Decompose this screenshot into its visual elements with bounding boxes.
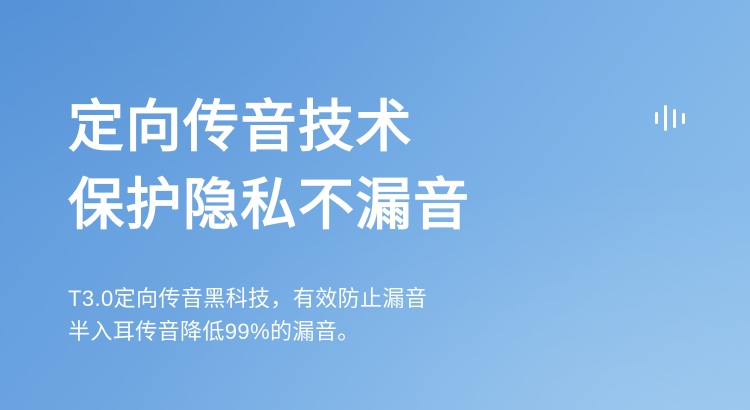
headline: 定向传音技术 保护隐私不漏音 [68,88,471,244]
sound-wave-bar-3 [673,109,676,128]
sound-wave-icon [655,103,685,133]
subtitle-line-2: 半入耳传音降低99%的漏音。 [68,315,427,348]
sound-wave-bar-1 [655,112,658,124]
headline-line-1: 定向传音技术 [68,88,471,166]
feature-banner: 定向传音技术 保护隐私不漏音 T3.0定向传音黑科技，有效防止漏音 半入耳传音降… [0,0,750,410]
headline-line-2: 保护隐私不漏音 [68,166,471,244]
banner-content: 定向传音技术 保护隐私不漏音 T3.0定向传音黑科技，有效防止漏音 半入耳传音降… [68,0,668,410]
subtitle-line-1: T3.0定向传音黑科技，有效防止漏音 [68,282,427,315]
sound-wave-bar-2 [664,105,667,131]
sound-wave-bar-4 [682,113,685,124]
subtitle: T3.0定向传音黑科技，有效防止漏音 半入耳传音降低99%的漏音。 [68,282,427,348]
